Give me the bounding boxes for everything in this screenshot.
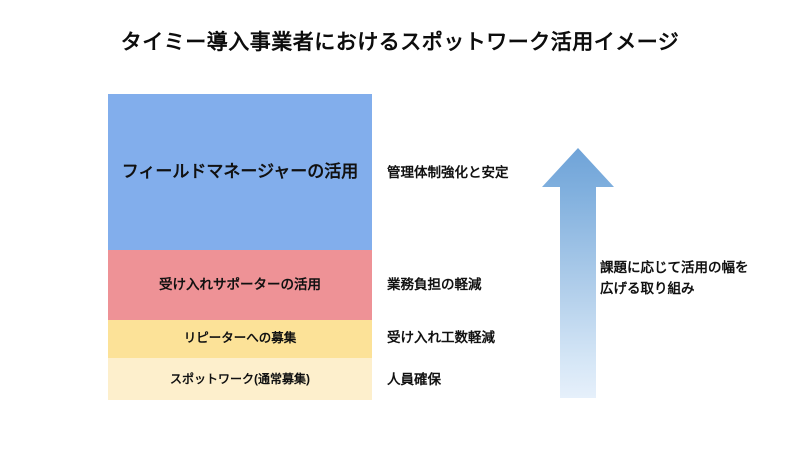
stack-band-label: フィールドマネージャーの活用 (122, 161, 358, 182)
arrow-caption-line-1: 課題に応じて活用の幅を (600, 258, 790, 279)
stack-band-label: 受け入れサポーターの活用 (159, 277, 321, 294)
benefit-label-headcount-security: 人員確保 (387, 372, 441, 388)
stack-band-repeater-recruiting[interactable]: リピーターへの募集 (108, 320, 372, 358)
stack-band-label: リピーターへの募集 (184, 331, 297, 347)
benefit-label-onboarding-effort-reduction: 受け入れ工数軽減 (387, 330, 495, 346)
arrow-caption-line-2: 広げる取り組み (600, 279, 790, 300)
stack-band-field-manager[interactable]: フィールドマネージャーの活用 (108, 94, 372, 250)
stack-band-label: スポットワーク(通常募集) (170, 372, 310, 387)
benefit-label-workload-reduction: 業務負担の軽減 (387, 277, 482, 293)
slide-canvas: タイミー導入事業者におけるスポットワーク活用イメージ フィールドマネージャーの活… (0, 0, 800, 450)
stack-band-support-staff[interactable]: 受け入れサポーターの活用 (108, 250, 372, 320)
spotwork-utilization-stack: フィールドマネージャーの活用 受け入れサポーターの活用 リピーターへの募集 スポ… (108, 94, 372, 400)
page-title: タイミー導入事業者におけるスポットワーク活用イメージ (0, 26, 800, 56)
stack-band-spotwork-standard[interactable]: スポットワーク(通常募集) (108, 358, 372, 400)
benefit-label-management-stability: 管理体制強化と安定 (387, 165, 509, 181)
arrow-caption: 課題に応じて活用の幅を 広げる取り組み (600, 258, 790, 300)
